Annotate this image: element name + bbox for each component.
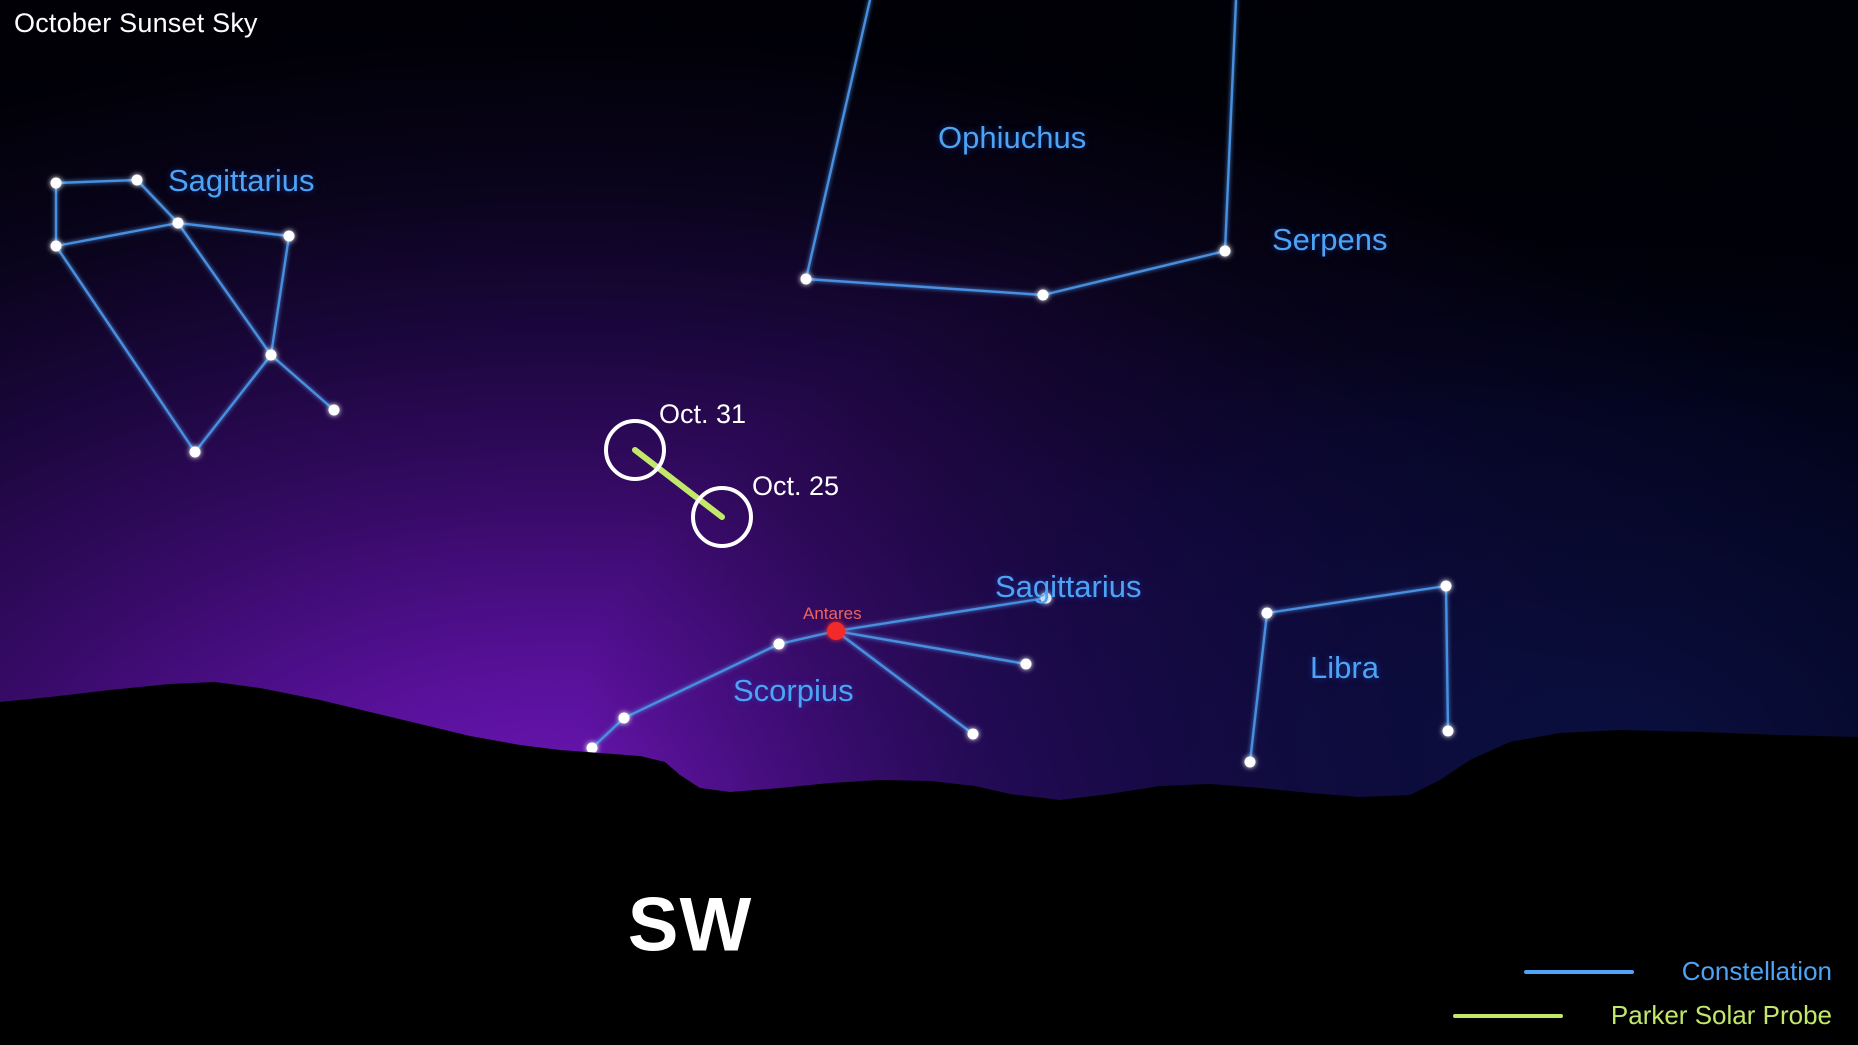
- constellation-label-scorpius: Scorpius: [733, 673, 854, 709]
- legend: Constellation Parker Solar Probe: [1453, 956, 1832, 1031]
- star-point: [51, 241, 62, 252]
- star-chart: October Sunset Sky SagittariusOphiuchusS…: [0, 0, 1858, 1045]
- star-point: [1220, 246, 1231, 257]
- star-point: [329, 405, 340, 416]
- legend-swatch-constellation: [1524, 970, 1634, 974]
- star-point: [284, 231, 295, 242]
- constellation-label-ophiuchus: Ophiuchus: [938, 120, 1086, 156]
- legend-swatch-parker-solar-probe: [1453, 1014, 1563, 1018]
- star-point: [190, 447, 201, 458]
- star-point: [173, 218, 184, 229]
- star-point: [1245, 757, 1256, 768]
- legend-item-constellation: Constellation: [1524, 956, 1832, 987]
- compass-direction-label: SW: [628, 882, 752, 969]
- star-point: [1443, 726, 1454, 737]
- probe-date-label: Oct. 31: [659, 399, 746, 430]
- star-point-antares: [827, 622, 845, 640]
- legend-label-parker-solar-probe: Parker Solar Probe: [1611, 1000, 1832, 1031]
- constellation-label-serpens: Serpens: [1272, 222, 1387, 258]
- star-point: [132, 175, 143, 186]
- star-point: [1021, 659, 1032, 670]
- constellation-label-libra: Libra: [1310, 650, 1379, 686]
- star-point: [619, 713, 630, 724]
- page-title: October Sunset Sky: [14, 8, 258, 39]
- star-point: [774, 639, 785, 650]
- star-point: [587, 743, 598, 754]
- constellation-label-sagittarius: Sagittarius: [168, 163, 314, 199]
- star-point: [51, 178, 62, 189]
- star-label-antares: Antares: [803, 604, 862, 624]
- sky-canvas: [0, 0, 1858, 1045]
- probe-date-label: Oct. 25: [752, 471, 839, 502]
- star-point: [1262, 608, 1273, 619]
- star-point: [266, 350, 277, 361]
- star-point: [1038, 290, 1049, 301]
- star-point: [801, 274, 812, 285]
- legend-item-parker-solar-probe: Parker Solar Probe: [1453, 1000, 1832, 1031]
- star-point: [968, 729, 979, 740]
- legend-label-constellation: Constellation: [1682, 956, 1832, 987]
- star-point: [1441, 581, 1452, 592]
- constellation-label-sagittarius: Sagittarius: [995, 569, 1141, 605]
